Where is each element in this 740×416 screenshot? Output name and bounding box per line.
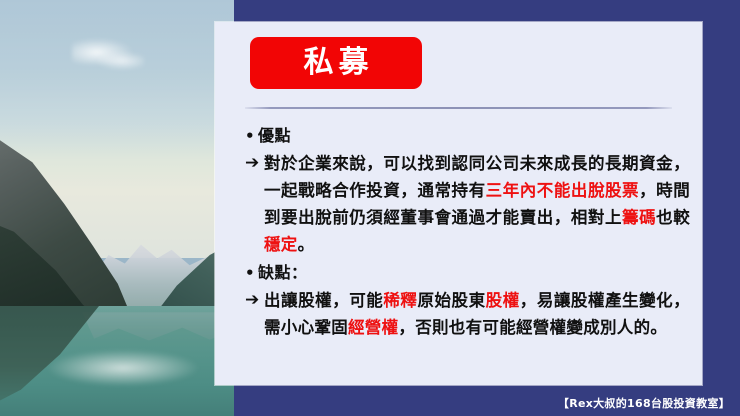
section-heading-row: • 優點 (245, 123, 690, 149)
section-paragraph-row: ➔ 出讓股權，可能稀釋原始股東股權，易讓股權產生變化，需小心鞏固經營權，否則也有… (245, 287, 690, 341)
card-body: • 優點 ➔ 對於企業來說，可以找到認同公司未來成長的長期資金，一起戰略合作投資… (245, 123, 690, 343)
highlighted-text: 三年內不能出脫股票 (486, 181, 639, 200)
plain-text: ，否則也有可能經營權變成別人的。 (398, 318, 667, 337)
title-badge-label: 私募 (299, 48, 374, 78)
section-paragraph-text: 出讓股權，可能稀釋原始股東股權，易讓股權產生變化，需小心鞏固經營權，否則也有可能… (264, 287, 690, 341)
plain-text: 。 (298, 235, 315, 254)
bullet-icon: • (245, 260, 258, 286)
section-heading-label: 優點 (258, 123, 291, 149)
section-heading-label: 缺點： (258, 260, 308, 286)
highlighted-text: 經營權 (348, 318, 398, 337)
highlighted-text: 穩定 (264, 235, 298, 254)
content-card: 私募 • 優點 ➔ 對於企業來說，可以找到認同公司未來成長的長期資金，一起戰略合… (215, 22, 702, 385)
highlighted-text: 籌碼 (622, 208, 656, 227)
slide-root: 私募 • 優點 ➔ 對於企業來說，可以找到認同公司未來成長的長期資金，一起戰略合… (0, 0, 740, 416)
plain-text: 也較 (656, 208, 690, 227)
section-advantages: • 優點 ➔ 對於企業來說，可以找到認同公司未來成長的長期資金，一起戰略合作投資… (245, 123, 690, 258)
section-heading-row: • 缺點： (245, 260, 690, 286)
lake-mountain-photo (0, 0, 234, 416)
plain-text: 出讓股權，可能 (264, 291, 383, 310)
plain-text: 原始股東 (417, 291, 485, 310)
bullet-icon: • (245, 123, 258, 149)
arrow-right-icon: ➔ (245, 150, 264, 177)
photo-cloud (96, 52, 144, 70)
section-paragraph-row: ➔ 對於企業來說，可以找到認同公司未來成長的長期資金，一起戰略合作投資，通常持有… (245, 150, 690, 258)
title-divider (245, 107, 672, 109)
section-disadvantages: • 缺點： ➔ 出讓股權，可能稀釋原始股東股權，易讓股權產生變化，需小心鞏固經營… (245, 260, 690, 341)
highlighted-text: 稀釋 (383, 291, 417, 310)
arrow-right-icon: ➔ (245, 287, 264, 314)
highlighted-text: 股權 (486, 291, 520, 310)
section-paragraph-text: 對於企業來說，可以找到認同公司未來成長的長期資金，一起戰略合作投資，通常持有三年… (264, 150, 690, 258)
title-badge: 私募 (250, 37, 422, 89)
footer-credit: 【Rex大叔的168台股投資教室】 (558, 395, 730, 411)
photo-lake-reflection-cloud (48, 350, 198, 386)
